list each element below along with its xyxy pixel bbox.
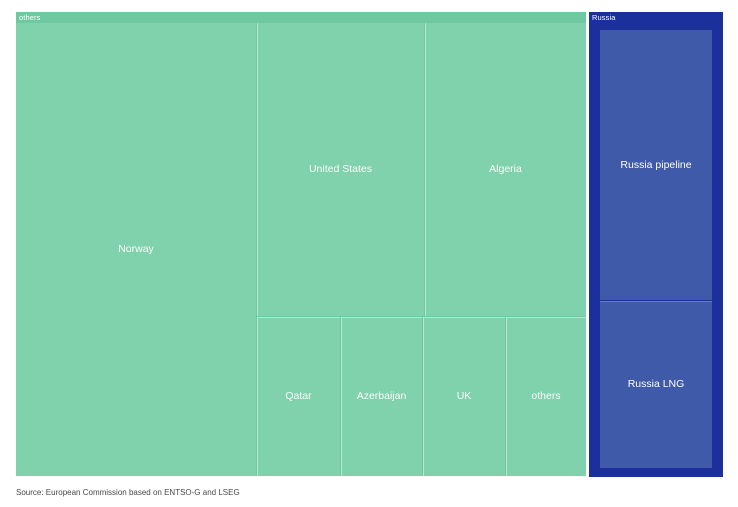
tile-label: United States [309, 163, 372, 176]
source-caption: Source: European Commission based on ENT… [16, 488, 240, 497]
treemap-tile-qatar[interactable]: Qatar [257, 317, 340, 476]
treemap-tile-russia-lng[interactable]: Russia LNG [600, 301, 712, 468]
treemap-tile-uk[interactable]: UK [423, 317, 505, 476]
tile-label: Russia LNG [628, 378, 685, 391]
tile-label: Algeria [489, 163, 522, 176]
treemap-tile-russia-pipeline[interactable]: Russia pipeline [600, 30, 712, 300]
tile-label: others [531, 390, 560, 403]
treemap-group-russia: Russia Russia pipeline Russia LNG [589, 12, 723, 477]
tile-label: Norway [118, 243, 154, 256]
tile-label: Azerbaijan [357, 390, 407, 403]
treemap-tile-azerbaijan[interactable]: Azerbaijan [341, 317, 422, 476]
treemap-chart: others Norway United States Algeria Qata… [0, 0, 738, 507]
group-header-label-russia: Russia [589, 12, 723, 23]
treemap-tiles-others: Norway United States Algeria Qatar Azerb… [16, 23, 586, 476]
tile-label: Russia pipeline [620, 159, 691, 172]
treemap-tile-others[interactable]: others [506, 317, 586, 476]
treemap-tile-norway[interactable]: Norway [16, 23, 256, 476]
treemap-group-others: others Norway United States Algeria Qata… [16, 12, 586, 476]
tile-label: UK [457, 390, 472, 403]
treemap-tile-algeria[interactable]: Algeria [425, 23, 586, 316]
group-header-label-others: others [16, 12, 586, 23]
tile-label: Qatar [285, 390, 311, 403]
treemap-tiles-russia: Russia pipeline Russia LNG [589, 23, 723, 477]
treemap-tile-united-states[interactable]: United States [257, 23, 424, 316]
